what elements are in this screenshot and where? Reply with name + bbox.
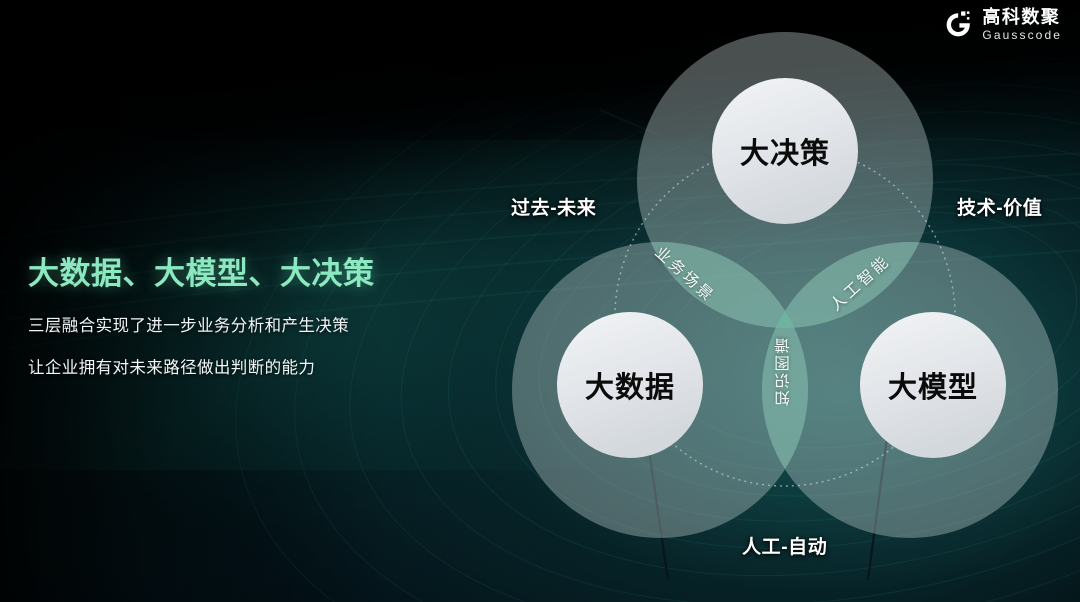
brand-name-cn: 高科数聚 — [982, 8, 1062, 26]
venn-axis-label-manual-auto: 人工-自动 — [742, 532, 827, 559]
brand-name-en: Gausscode — [982, 29, 1062, 41]
page-title: 大数据、大模型、大决策 — [28, 248, 468, 293]
slide-canvas: 大决策 大数据 大模型 业务场景 人工智能 知识图谱 过去-未来 技术-价值 人… — [0, 0, 1080, 602]
venn-lens-label-knowledge-graph: 知识图谱 — [773, 336, 795, 406]
gausscode-g-mark-icon — [943, 10, 973, 40]
venn-core-label-bigdata: 大数据 — [585, 364, 675, 406]
venn-axis-label-tech-value: 技术-价值 — [957, 193, 1042, 220]
venn-axis-label-past-future: 过去-未来 — [511, 193, 596, 220]
subtitle-line-1: 三层融合实现了进一步业务分析和产生决策 — [28, 312, 468, 336]
venn-core-label-decision: 大决策 — [740, 130, 830, 172]
subtitle-line-2: 让企业拥有对未来路径做出判断的能力 — [28, 354, 468, 378]
venn-core-label-bigmodel: 大模型 — [888, 364, 978, 406]
brand-logo: 高科数聚 Gausscode — [943, 8, 1062, 41]
brand-logo-text: 高科数聚 Gausscode — [982, 8, 1062, 41]
venn-diagram — [450, 0, 1080, 602]
headline-block: 大数据、大模型、大决策 三层融合实现了进一步业务分析和产生决策 让企业拥有对未来… — [28, 248, 468, 378]
